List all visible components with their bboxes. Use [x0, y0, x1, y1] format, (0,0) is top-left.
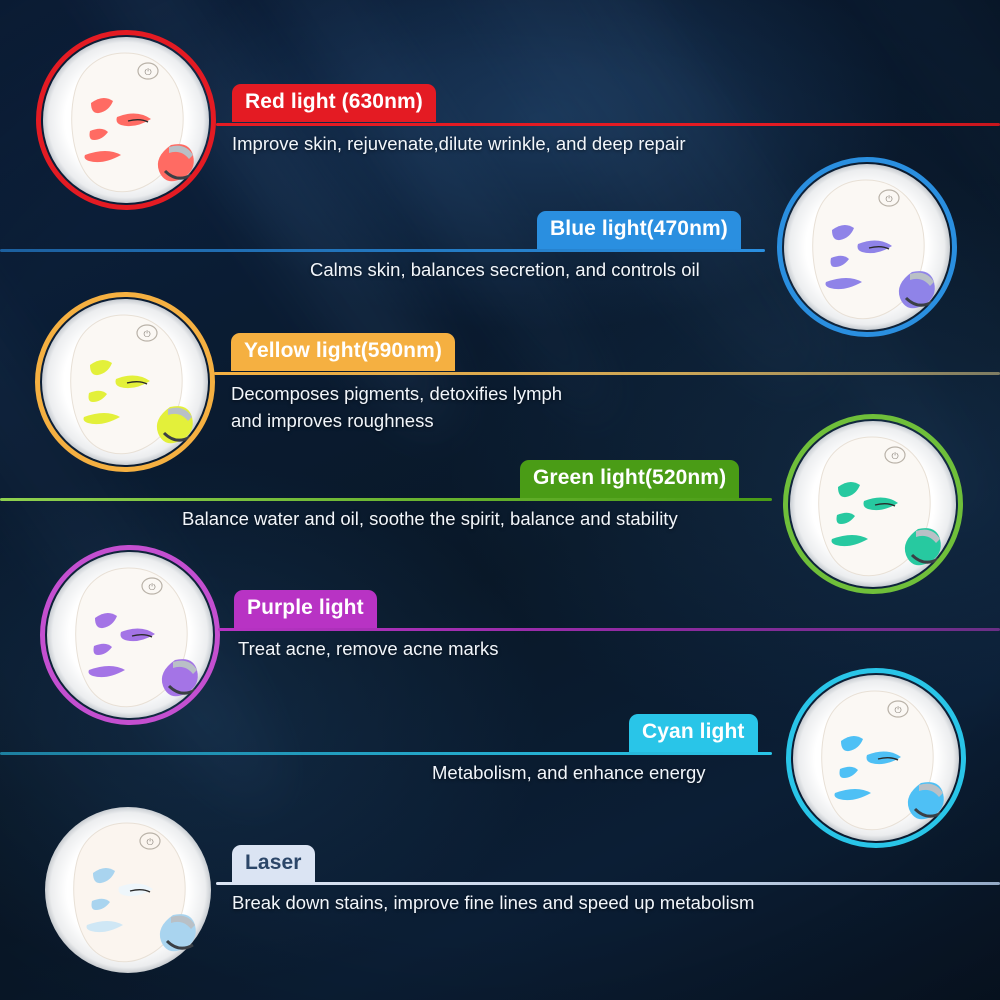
description-blue-light: Calms skin, balances secretion, and cont…: [310, 257, 700, 284]
description-cyan-light: Metabolism, and enhance energy: [432, 760, 706, 787]
accent-line-blue: [0, 249, 765, 252]
description-laser: Break down stains, improve fine lines an…: [232, 890, 754, 917]
accent-line-red: [216, 123, 1000, 126]
mask-ring-green: [783, 414, 963, 594]
description-purple-light: Treat acne, remove acne marks: [238, 636, 498, 663]
mask-photo-laser: ⏻: [38, 800, 218, 980]
badge-purple-light[interactable]: Purple light: [234, 590, 377, 628]
badge-laser[interactable]: Laser: [232, 845, 315, 883]
badge-yellow-light[interactable]: Yellow light(590nm): [231, 333, 455, 371]
infographic-canvas: ⏻ Red light (630nm) Improve skin, rejuve…: [0, 0, 1000, 1000]
badge-green-light[interactable]: Green light(520nm): [520, 460, 739, 498]
mask-photo-yellow: ⏻: [35, 292, 215, 472]
mask-photo-blue: ⏻: [777, 157, 957, 337]
description-yellow-light: Decomposes pigments, detoxifies lymph an…: [231, 381, 562, 435]
mask-photo-purple: ⏻: [40, 545, 220, 725]
accent-line-green: [0, 498, 772, 501]
mask-ring-laser: [38, 800, 218, 980]
mask-ring-cyan: [786, 668, 966, 848]
badge-cyan-light[interactable]: Cyan light: [629, 714, 758, 752]
mask-ring-blue: [777, 157, 957, 337]
mask-photo-cyan: ⏻: [786, 668, 966, 848]
description-red-light: Improve skin, rejuvenate,dilute wrinkle,…: [232, 131, 686, 158]
accent-line-yellow: [214, 372, 1000, 375]
mask-photo-green: ⏻: [783, 414, 963, 594]
accent-line-laser: [216, 882, 1000, 885]
mask-ring-red: [36, 30, 216, 210]
mask-ring-purple: [40, 545, 220, 725]
description-green-light: Balance water and oil, soothe the spirit…: [182, 506, 678, 533]
mask-ring-yellow: [35, 292, 215, 472]
badge-blue-light[interactable]: Blue light(470nm): [537, 211, 741, 249]
badge-red-light[interactable]: Red light (630nm): [232, 84, 436, 122]
mask-photo-red: ⏻: [36, 30, 216, 210]
accent-line-cyan: [0, 752, 772, 755]
accent-line-purple: [218, 628, 1000, 631]
